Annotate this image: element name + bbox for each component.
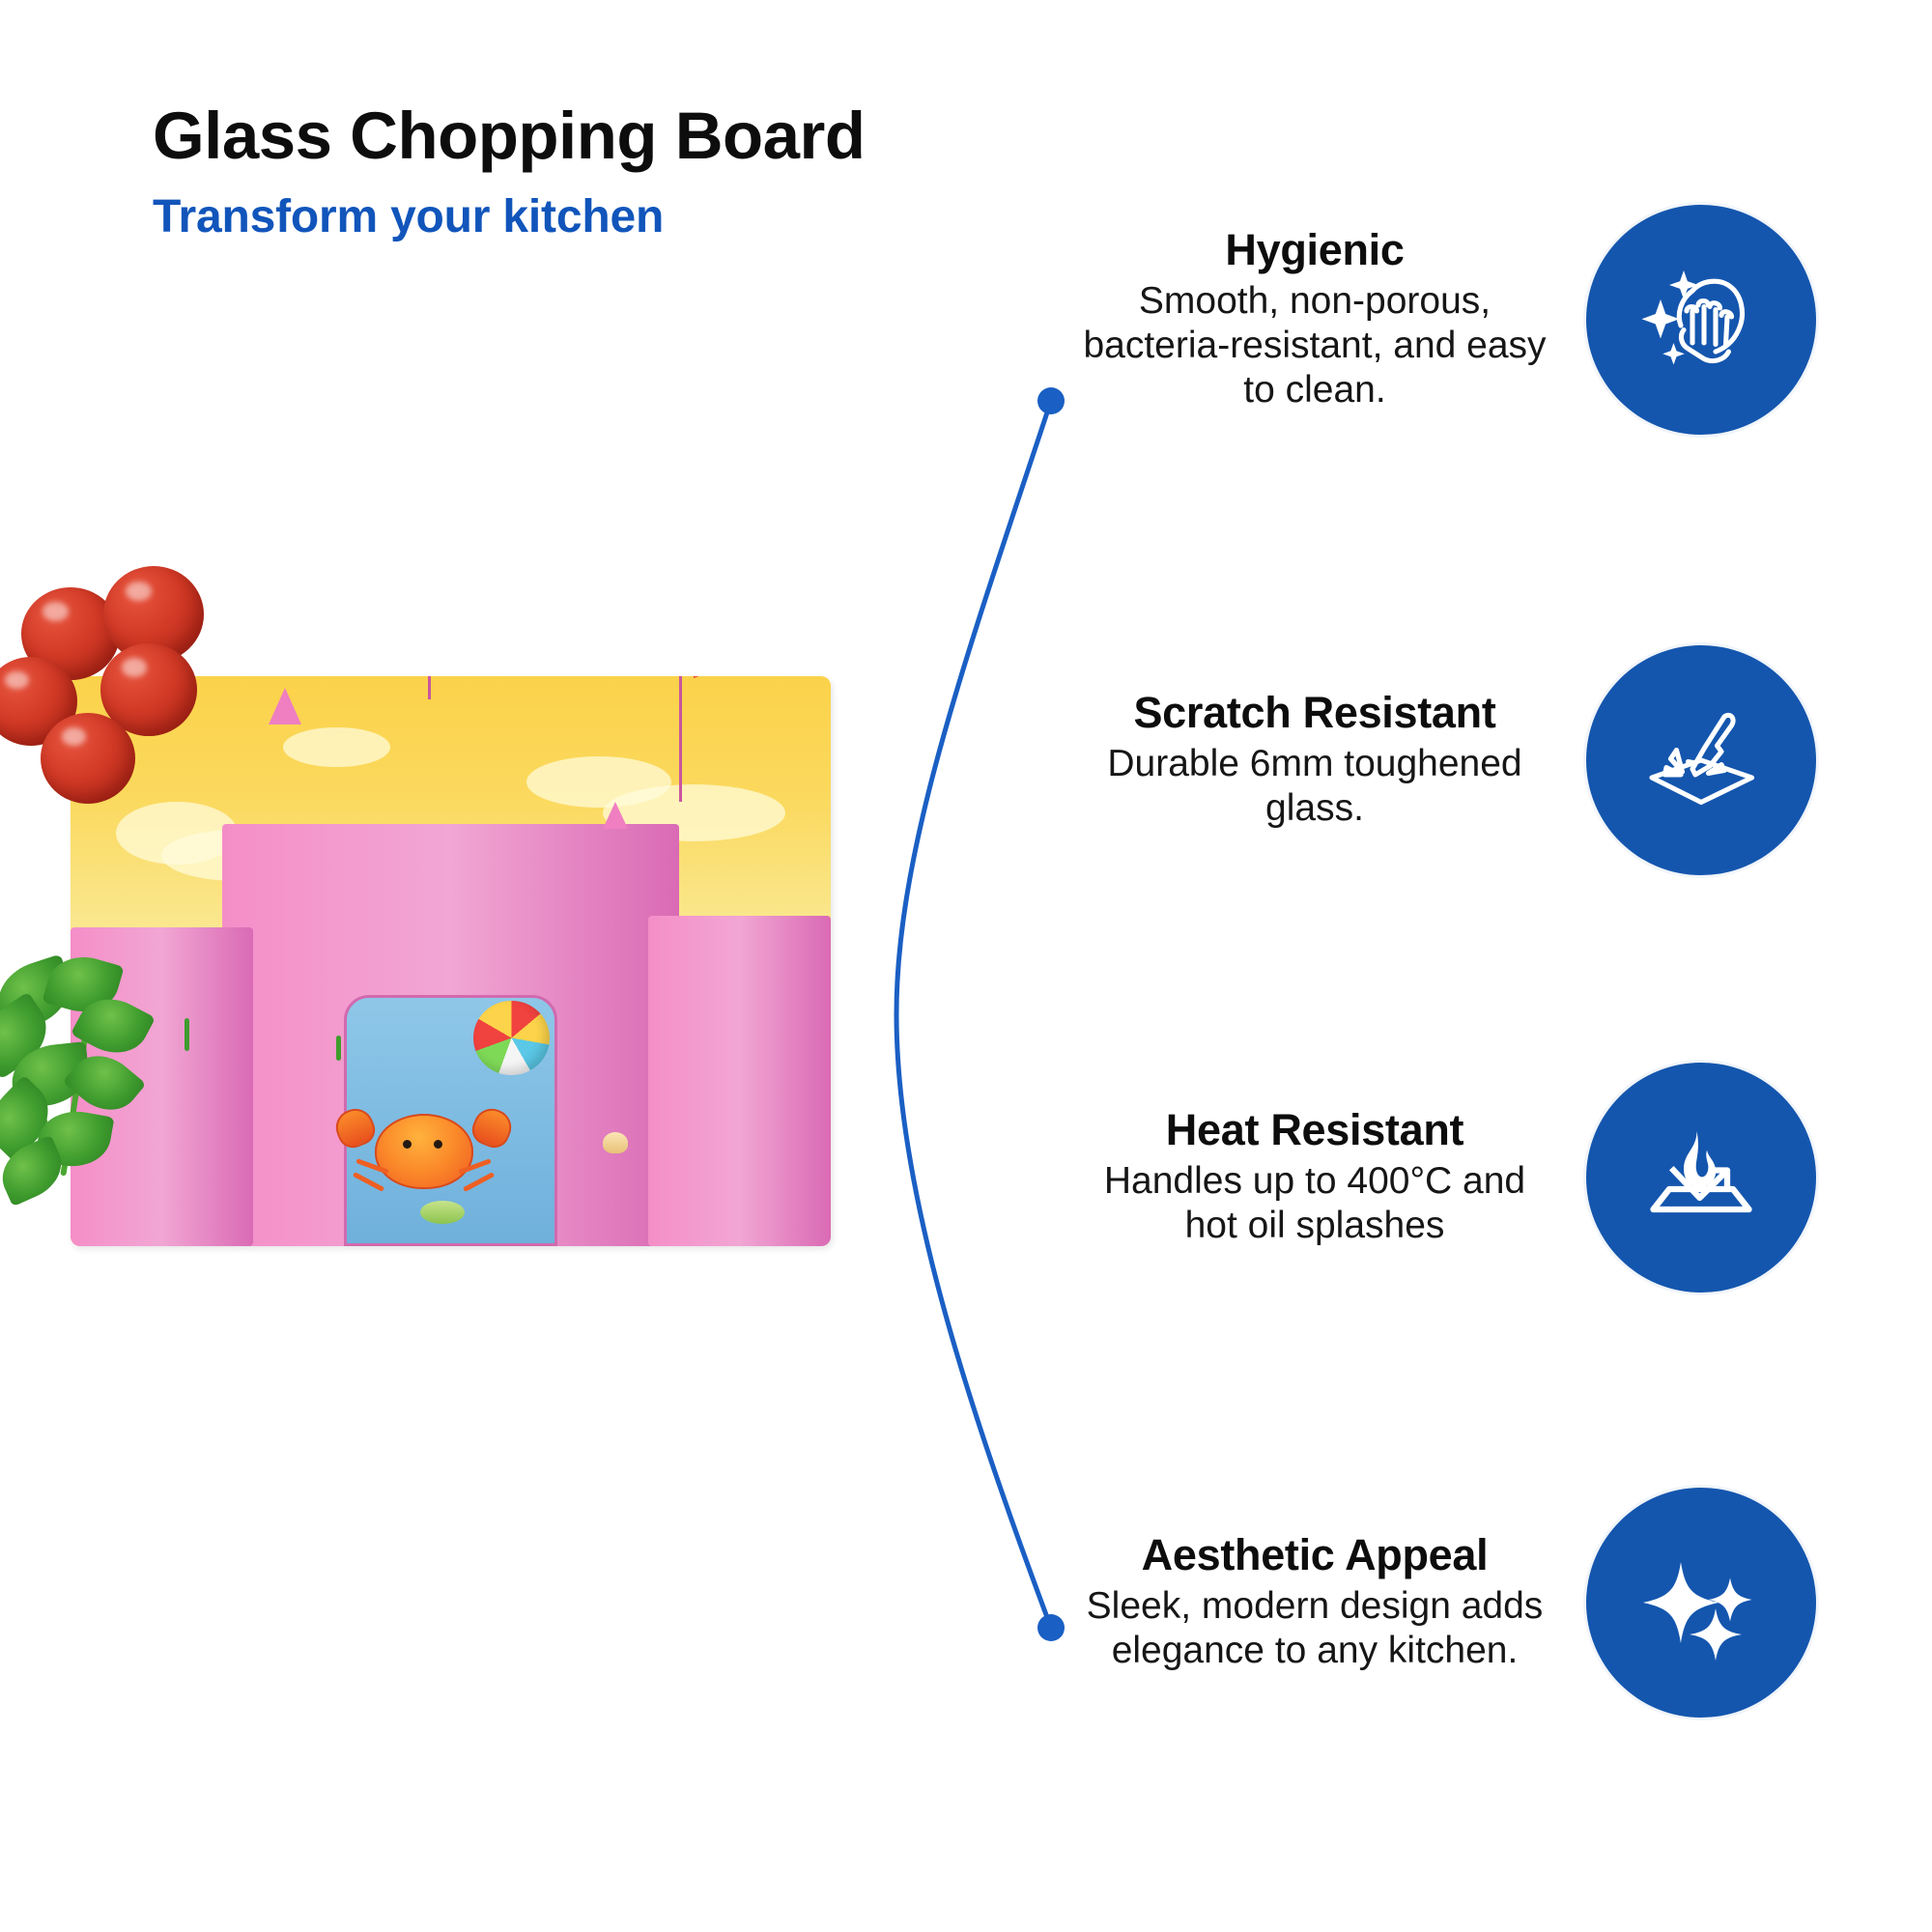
knife-impact-surface-icon [1586,645,1816,875]
castle-roof-center [269,688,301,724]
crab-leg [353,1172,385,1192]
beach-ball [473,1001,550,1075]
feature-aesthetic-appeal-title: Aesthetic Appeal [1078,1532,1551,1578]
feature-hygienic-description: Smooth, non-porous, bacteria-resistant, … [1078,279,1551,412]
feature-scratch-resistant-title: Scratch Resistant [1078,690,1551,736]
crab-body [375,1114,473,1189]
feature-hygienic: Hygienic Smooth, non-porous, bacteria-re… [1053,205,1816,435]
crab-character [329,1087,520,1212]
crab-claw-right [468,1103,517,1152]
header-block: Glass Chopping Board Transform your kitc… [153,102,1119,241]
castle-flag-right [694,676,713,678]
seaweed-sprig [336,1036,341,1061]
connector-curve [850,367,1101,1662]
feature-aesthetic-appeal: Aesthetic Appeal Sleek, modern design ad… [1053,1488,1816,1718]
feature-scratch-resistant-description: Durable 6mm toughened glass. [1078,742,1551,831]
hand-wiping-sparkle-icon [1586,205,1816,435]
feature-heat-resistant-description: Handles up to 400°C and hot oil splashes [1078,1159,1551,1248]
castle-flagpole-right [679,676,682,802]
product-image-figure [0,599,869,1333]
crab-claw-left [331,1103,381,1152]
page-title: Glass Chopping Board [153,102,1119,169]
green-pebble [420,1201,465,1224]
castle-side-tower-right [648,916,831,1246]
flame-deflect-surface-icon [1586,1063,1816,1293]
cherry-tomato [41,713,135,804]
feature-scratch-resistant-text: Scratch Resistant Durable 6mm toughened … [1078,690,1551,831]
cloud-shape [283,727,389,767]
crab-leg [463,1172,496,1192]
castle-roof-right [603,802,628,829]
castle-flagpole-center [428,676,431,699]
feature-hygienic-title: Hygienic [1078,227,1551,273]
feature-aesthetic-appeal-description: Sleek, modern design adds elegance to an… [1078,1584,1551,1673]
parsley-garnish [0,956,201,1227]
feature-heat-resistant-text: Heat Resistant Handles up to 400°C and h… [1078,1107,1551,1248]
shell [603,1132,628,1153]
sparkles-icon [1586,1488,1816,1718]
feature-scratch-resistant: Scratch Resistant Durable 6mm toughened … [1053,645,1816,875]
feature-heat-resistant: Heat Resistant Handles up to 400°C and h… [1053,1063,1816,1293]
connector-path [896,401,1051,1628]
feature-hygienic-text: Hygienic Smooth, non-porous, bacteria-re… [1078,227,1551,412]
crab-eye-right [434,1140,442,1149]
feature-heat-resistant-title: Heat Resistant [1078,1107,1551,1153]
feature-aesthetic-appeal-text: Aesthetic Appeal Sleek, modern design ad… [1078,1532,1551,1673]
crab-eye-left [403,1140,412,1149]
page-subtitle: Transform your kitchen [153,194,1119,241]
